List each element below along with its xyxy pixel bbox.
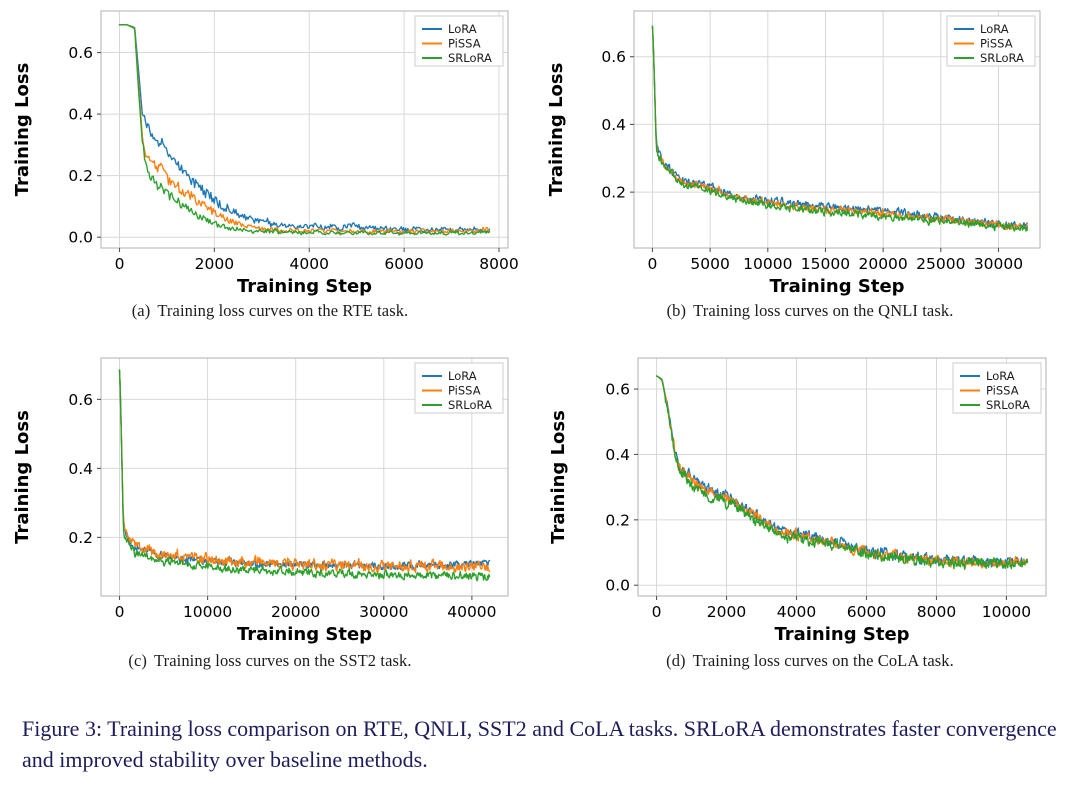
legend-label-lora: LoRA: [986, 369, 1015, 383]
x-tick-label: 2000: [195, 255, 234, 273]
subplot-grid: 020004000600080000.00.20.40.6Training St…: [0, 0, 1080, 690]
y-tick-label: 0.4: [68, 460, 93, 478]
x-tick-label: 10000: [743, 255, 792, 273]
plot-c: 0100002000030000400000.20.40.6Training S…: [0, 340, 540, 648]
legend: LoRAPiSSASRLoRA: [947, 16, 1035, 66]
legend-label-srlora: SRLoRA: [986, 398, 1030, 412]
subcaption-d-label: (d): [666, 651, 686, 670]
y-tick-label: 0.2: [601, 184, 626, 202]
legend: LoRAPiSSASRLoRA: [415, 16, 503, 66]
x-axis-label: Training Step: [769, 276, 904, 297]
subcaption-a: (a)Training loss curves on the RTE task.: [0, 301, 540, 321]
x-tick-label: 20000: [858, 255, 907, 273]
x-tick-label: 0: [115, 603, 125, 621]
y-axis-label: Training Loss: [12, 63, 33, 197]
y-tick-label: 0.0: [68, 229, 93, 247]
subcaption-b-label: (b): [667, 301, 687, 320]
y-tick-label: 0.2: [605, 511, 630, 529]
plot-d: 02000400060008000100000.00.20.40.6Traini…: [540, 340, 1080, 648]
legend-label-lora: LoRA: [448, 22, 477, 36]
y-tick-label: 0.6: [605, 381, 630, 399]
figure-caption-label: Figure 3:: [22, 716, 102, 741]
plot-b: 0500010000150002000025000300000.20.40.6T…: [540, 0, 1080, 300]
y-tick-label: 0.6: [68, 391, 93, 409]
x-tick-label: 0: [648, 255, 658, 273]
x-axis-label: Training Step: [237, 276, 372, 297]
legend-label-lora: LoRA: [980, 22, 1009, 36]
y-tick-label: 0.2: [68, 529, 93, 547]
plot-a: 020004000600080000.00.20.40.6Training St…: [0, 0, 540, 300]
subcaption-c-text: Training loss curves on the SST2 task.: [154, 651, 412, 670]
panel-b-qnli: 0500010000150002000025000300000.20.40.6T…: [540, 0, 1080, 340]
panel-c-sst2: 0100002000030000400000.20.40.6Training S…: [0, 340, 540, 690]
y-tick-label: 0.0: [605, 577, 630, 595]
subcaption-d-text: Training loss curves on the CoLA task.: [693, 651, 954, 670]
legend-label-pissa: PiSSA: [986, 384, 1019, 398]
figure-caption: Figure 3: Training loss comparison on RT…: [22, 713, 1064, 775]
x-tick-label: 10000: [982, 603, 1031, 621]
x-tick-label: 20000: [271, 603, 320, 621]
legend-label-lora: LoRA: [448, 369, 477, 383]
panel-d-cola: 02000400060008000100000.00.20.40.6Traini…: [540, 340, 1080, 690]
x-tick-label: 2000: [707, 603, 746, 621]
legend: LoRAPiSSASRLoRA: [415, 363, 503, 413]
subcaption-b: (b)Training loss curves on the QNLI task…: [540, 301, 1080, 321]
x-tick-label: 15000: [801, 255, 850, 273]
x-tick-label: 4000: [290, 255, 329, 273]
x-tick-label: 6000: [384, 255, 423, 273]
x-tick-label: 0: [115, 255, 125, 273]
legend-label-pissa: PiSSA: [980, 37, 1013, 51]
subcaption-b-text: Training loss curves on the QNLI task.: [693, 301, 953, 320]
y-tick-label: 0.4: [68, 106, 93, 124]
y-tick-label: 0.4: [605, 446, 630, 464]
y-tick-label: 0.2: [68, 167, 93, 185]
legend-label-pissa: PiSSA: [448, 37, 481, 51]
y-axis-label: Training Loss: [546, 63, 567, 197]
x-tick-label: 4000: [777, 603, 816, 621]
chart-d: 02000400060008000100000.00.20.40.6Traini…: [540, 340, 1080, 648]
x-tick-label: 10000: [183, 603, 232, 621]
x-axis-label: Training Step: [237, 624, 372, 645]
subcaption-c: (c)Training loss curves on the SST2 task…: [0, 651, 540, 671]
legend-label-srlora: SRLoRA: [448, 51, 492, 65]
x-tick-label: 8000: [917, 603, 956, 621]
legend-label-srlora: SRLoRA: [980, 51, 1024, 65]
x-tick-label: 5000: [690, 255, 729, 273]
chart-c: 0100002000030000400000.20.40.6Training S…: [0, 340, 540, 648]
subcaption-a-text: Training loss curves on the RTE task.: [157, 301, 408, 320]
panel-a-rte: 020004000600080000.00.20.40.6Training St…: [0, 0, 540, 340]
chart-b: 0500010000150002000025000300000.20.40.6T…: [540, 0, 1080, 300]
x-axis-label: Training Step: [774, 624, 909, 645]
legend-label-pissa: PiSSA: [448, 384, 481, 398]
legend-label-srlora: SRLoRA: [448, 398, 492, 412]
x-tick-label: 40000: [447, 603, 496, 621]
figure-caption-text: Training loss comparison on RTE, QNLI, S…: [22, 716, 1057, 772]
x-tick-label: 25000: [916, 255, 965, 273]
figure-3-training-loss-comparison: 020004000600080000.00.20.40.6Training St…: [0, 0, 1080, 807]
y-axis-label: Training Loss: [12, 410, 33, 544]
x-tick-label: 30000: [974, 255, 1023, 273]
y-tick-label: 0.6: [601, 48, 626, 66]
x-tick-label: 30000: [359, 603, 408, 621]
y-tick-label: 0.4: [601, 116, 626, 134]
x-tick-label: 8000: [479, 255, 518, 273]
subcaption-c-label: (c): [128, 651, 147, 670]
y-tick-label: 0.6: [68, 44, 93, 62]
x-tick-label: 6000: [847, 603, 886, 621]
subcaption-d: (d)Training loss curves on the CoLA task…: [540, 651, 1080, 671]
legend: LoRAPiSSASRLoRA: [953, 363, 1041, 413]
chart-a: 020004000600080000.00.20.40.6Training St…: [0, 0, 540, 300]
subcaption-a-label: (a): [132, 301, 151, 320]
x-tick-label: 0: [652, 603, 662, 621]
y-axis-label: Training Loss: [548, 410, 569, 544]
